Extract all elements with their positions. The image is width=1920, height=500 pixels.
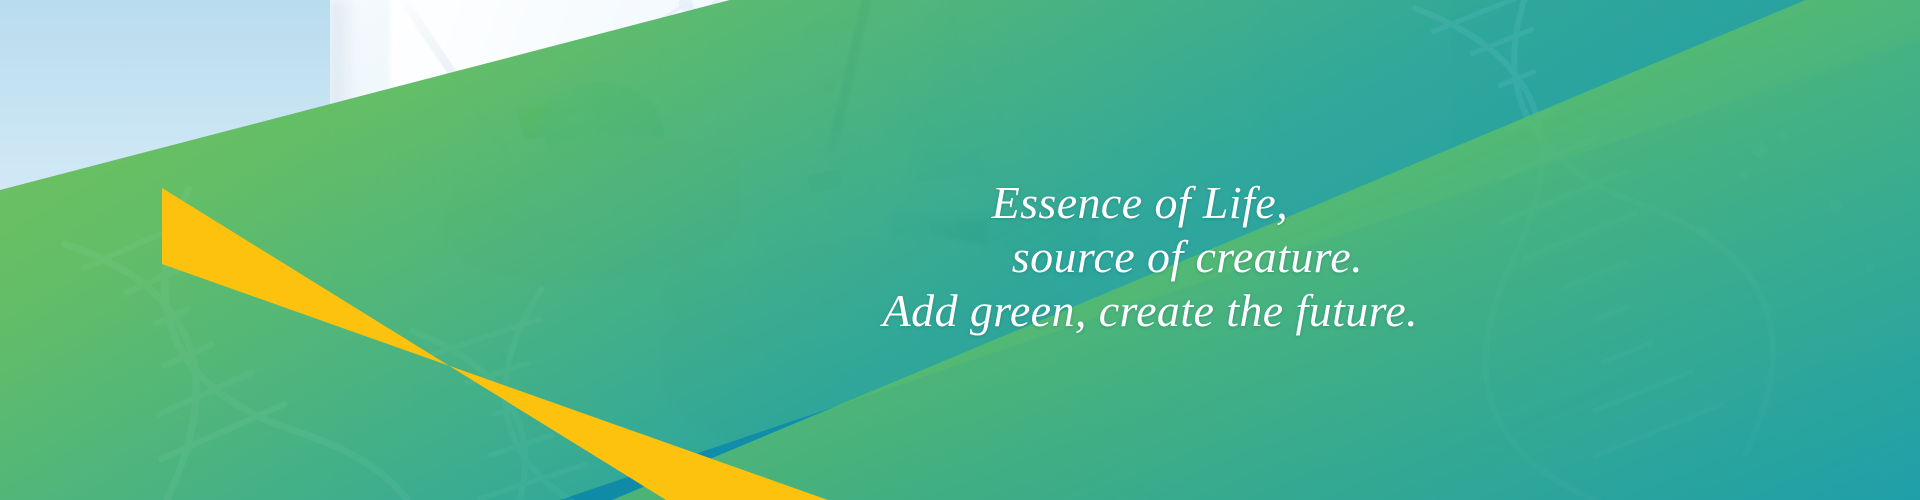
slogan-line-3: Add green, create the future. bbox=[0, 284, 1418, 338]
slogan-line-2: source of creature. bbox=[0, 230, 1418, 284]
slogan-text: Essence of Life, source of creature. Add… bbox=[0, 176, 1920, 338]
hero-banner: Essence of Life, source of creature. Add… bbox=[0, 0, 1920, 500]
slogan-line-1: Essence of Life, bbox=[0, 176, 1418, 230]
